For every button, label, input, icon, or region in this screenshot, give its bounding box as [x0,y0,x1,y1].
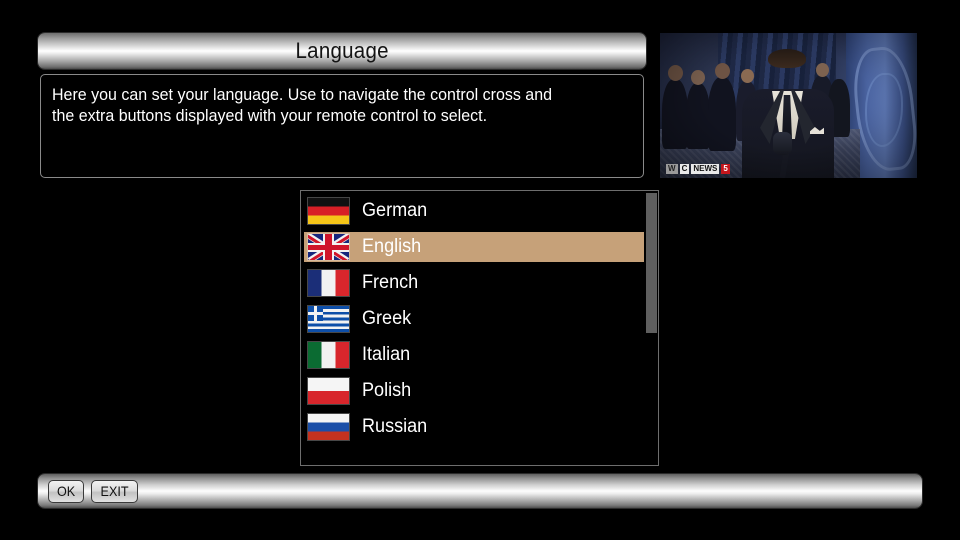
video-preview[interactable]: W C NEWS 5 [660,33,917,178]
flag-italy-icon [308,342,349,368]
list-item-english[interactable]: English [304,232,644,262]
exit-button-label: EXIT [101,483,129,499]
list-item-label: German [362,200,427,222]
language-list-panel: German English French Greek Italian [300,190,659,466]
ok-button[interactable]: OK [48,480,84,503]
watermark-part-3: NEWS [691,164,719,174]
list-item-label: Italian [362,344,410,366]
exit-button[interactable]: EXIT [91,480,138,503]
video-watermark: W C NEWS 5 [666,163,730,174]
flag-greece-icon [308,306,349,332]
title-bar: Language [38,33,646,69]
description-line-1: Here you can set your language. Use to n… [52,85,616,106]
watermark-part-4: 5 [721,164,729,174]
flag-russia-icon [308,414,349,440]
list-item-label: Russian [362,416,427,438]
list-scrollbar-thumb[interactable] [646,193,657,333]
list-item-greek[interactable]: Greek [304,304,644,334]
list-item-italian[interactable]: Italian [304,340,644,370]
ok-button-label: OK [57,483,75,499]
flag-united-kingdom-icon [308,234,349,260]
page-title: Language [295,38,388,64]
flag-germany-icon [308,198,349,224]
tv-settings-screen: Language Here you can set your language.… [0,0,960,540]
list-item-label: English [362,236,421,258]
list-item-polish[interactable]: Polish [304,376,644,406]
watermark-part-2: C [680,164,690,174]
watermark-part-1: W [666,164,678,174]
description-box: Here you can set your language. Use to n… [40,74,644,178]
video-vignette [660,33,917,178]
flag-poland-icon [308,378,349,404]
bottom-action-bar: OK EXIT [38,474,922,508]
list-scrollbar-track[interactable] [645,191,658,465]
list-item-label: Greek [362,308,411,330]
list-item-label: French [362,272,418,294]
list-item-german[interactable]: German [304,196,644,226]
list-item-russian[interactable]: Russian [304,412,644,442]
list-item-french[interactable]: French [304,268,644,298]
flag-france-icon [308,270,349,296]
description-line-2: the extra buttons displayed with your re… [52,106,616,127]
list-item-label: Polish [362,380,411,402]
